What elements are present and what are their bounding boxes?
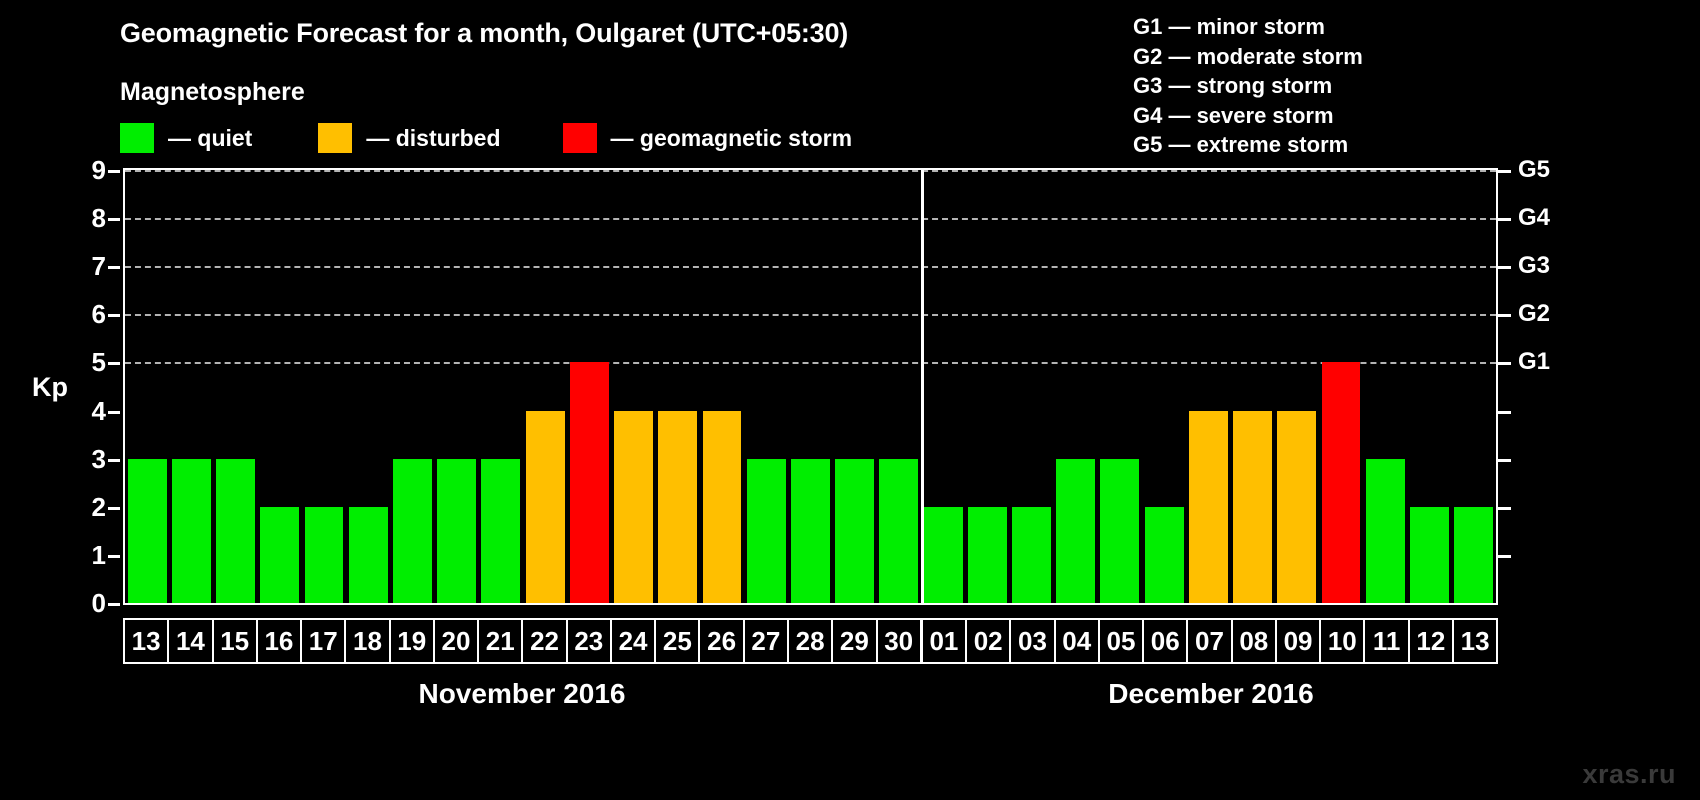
legend-item: — quiet xyxy=(120,123,252,153)
day-label[interactable]: 05 xyxy=(1100,620,1144,662)
disturbed-swatch xyxy=(318,123,352,153)
g-scale-entry: G2 — moderate storm xyxy=(1133,42,1363,72)
bar-cell[interactable] xyxy=(125,170,169,603)
g-tick-label-g5: G5 xyxy=(1518,158,1550,182)
g-axis-tick-mark xyxy=(1498,314,1511,317)
bar-cell[interactable] xyxy=(567,170,611,603)
y-axis: 0123456789 xyxy=(60,168,120,605)
bar[interactable] xyxy=(1410,507,1449,603)
day-label[interactable]: 18 xyxy=(346,620,390,662)
y-tick-mark xyxy=(108,266,120,269)
bar[interactable] xyxy=(968,507,1007,603)
bar[interactable] xyxy=(1189,411,1228,603)
bar[interactable] xyxy=(570,362,609,603)
y-tick-label: 2 xyxy=(92,494,106,520)
bar-cell[interactable] xyxy=(744,170,788,603)
bar[interactable] xyxy=(349,507,388,603)
month-divider xyxy=(921,168,924,605)
month-caption-november: November 2016 xyxy=(123,678,921,710)
y-tick-mark xyxy=(108,555,120,558)
bar[interactable] xyxy=(437,459,476,603)
day-axis-labels: 1314151617181920212223242526272829300102… xyxy=(123,618,1498,664)
g-scale-axis: G1G2G3G4G5 xyxy=(1498,168,1588,605)
y-tick-label: 4 xyxy=(92,398,106,424)
bar[interactable] xyxy=(924,507,963,603)
bar-cell[interactable] xyxy=(169,170,213,603)
bar-cell[interactable] xyxy=(258,170,302,603)
bar-cell[interactable] xyxy=(1452,170,1496,603)
day-label[interactable]: 14 xyxy=(169,620,213,662)
bar[interactable] xyxy=(835,459,874,603)
bar[interactable] xyxy=(393,459,432,603)
bar[interactable] xyxy=(1233,411,1272,603)
bar[interactable] xyxy=(879,459,918,603)
bar[interactable] xyxy=(216,459,255,603)
bar[interactable] xyxy=(128,459,167,603)
legend-item: — disturbed xyxy=(318,123,500,153)
bar[interactable] xyxy=(481,459,520,603)
g-axis-tick-mark xyxy=(1498,170,1511,173)
bar-series xyxy=(125,170,1496,603)
day-label[interactable]: 21 xyxy=(479,620,523,662)
legend-item: — geomagnetic storm xyxy=(563,123,853,153)
watermark: xras.ru xyxy=(1582,759,1676,790)
bar[interactable] xyxy=(703,411,742,603)
day-label[interactable]: 17 xyxy=(302,620,346,662)
day-label[interactable]: 30 xyxy=(878,620,923,662)
g-axis-tick-mark xyxy=(1498,218,1511,221)
y-tick-mark xyxy=(108,218,120,221)
g-axis-minor-tick xyxy=(1498,507,1511,510)
bar[interactable] xyxy=(526,411,565,603)
bar[interactable] xyxy=(1145,507,1184,603)
page-title: Geomagnetic Forecast for a month, Oulgar… xyxy=(120,18,848,49)
day-label[interactable]: 16 xyxy=(258,620,302,662)
day-label[interactable]: 07 xyxy=(1188,620,1232,662)
day-label[interactable]: 03 xyxy=(1011,620,1055,662)
bar-cell[interactable] xyxy=(213,170,257,603)
bar-cell[interactable] xyxy=(921,170,965,603)
bar[interactable] xyxy=(305,507,344,603)
day-label[interactable]: 23 xyxy=(568,620,612,662)
bar-cell[interactable] xyxy=(435,170,479,603)
y-tick-mark xyxy=(108,411,120,414)
day-label[interactable]: 08 xyxy=(1233,620,1277,662)
day-label[interactable]: 29 xyxy=(833,620,877,662)
g-scale-entry: G4 — severe storm xyxy=(1133,101,1363,131)
g-scale-entry: G1 — minor storm xyxy=(1133,12,1363,42)
y-tick-label: 5 xyxy=(92,349,106,375)
bar[interactable] xyxy=(1012,507,1051,603)
day-label[interactable]: 06 xyxy=(1144,620,1188,662)
bar-cell[interactable] xyxy=(611,170,655,603)
bar-cell[interactable] xyxy=(1275,170,1319,603)
bar[interactable] xyxy=(791,459,830,603)
plot-inner xyxy=(125,170,1496,603)
bar[interactable] xyxy=(1100,459,1139,603)
g-axis-minor-tick xyxy=(1498,555,1511,558)
y-tick-mark xyxy=(108,459,120,462)
bar-cell[interactable] xyxy=(965,170,1009,603)
y-tick-mark xyxy=(108,603,120,606)
day-label[interactable]: 15 xyxy=(214,620,258,662)
bar-cell[interactable] xyxy=(1230,170,1274,603)
y-tick-label: 8 xyxy=(92,205,106,231)
bar-cell[interactable] xyxy=(1363,170,1407,603)
y-tick-mark xyxy=(108,170,120,173)
bar-cell[interactable] xyxy=(302,170,346,603)
bar-cell[interactable] xyxy=(1407,170,1451,603)
g-scale-entry: G3 — strong storm xyxy=(1133,71,1363,101)
day-label[interactable]: 11 xyxy=(1365,620,1409,662)
day-label[interactable]: 13 xyxy=(125,620,169,662)
y-tick-label: 9 xyxy=(92,157,106,183)
g-tick-label-g3: G3 xyxy=(1518,254,1550,278)
bar-cell[interactable] xyxy=(390,170,434,603)
day-label[interactable]: 12 xyxy=(1410,620,1454,662)
g-axis-minor-tick xyxy=(1498,459,1511,462)
day-label[interactable]: 25 xyxy=(656,620,700,662)
bar[interactable] xyxy=(172,459,211,603)
bar-cell[interactable] xyxy=(346,170,390,603)
g-axis-tick-mark xyxy=(1498,266,1511,269)
bar-cell[interactable] xyxy=(877,170,921,603)
bar[interactable] xyxy=(1322,362,1361,603)
y-tick-label: 1 xyxy=(92,542,106,568)
legend-item-label: — disturbed xyxy=(366,125,500,152)
bar-cell[interactable] xyxy=(1186,170,1230,603)
day-label[interactable]: 01 xyxy=(923,620,967,662)
bar[interactable] xyxy=(658,411,697,603)
storm-swatch xyxy=(563,123,597,153)
y-tick-label: 0 xyxy=(92,590,106,616)
g-tick-label-g2: G2 xyxy=(1518,302,1550,326)
plot-area xyxy=(123,168,1498,605)
g-axis-tick-mark xyxy=(1498,362,1511,365)
y-tick-label: 7 xyxy=(92,253,106,279)
day-label[interactable]: 24 xyxy=(612,620,656,662)
g-scale-entry: G5 — extreme storm xyxy=(1133,130,1363,160)
month-caption-december: December 2016 xyxy=(924,678,1498,710)
y-tick-mark xyxy=(108,507,120,510)
g-scale-legend: G1 — minor stormG2 — moderate stormG3 — … xyxy=(1133,12,1363,160)
bar-cell[interactable] xyxy=(788,170,832,603)
y-tick-mark xyxy=(108,314,120,317)
day-label[interactable]: 04 xyxy=(1056,620,1100,662)
day-label[interactable]: 19 xyxy=(391,620,435,662)
bar[interactable] xyxy=(614,411,653,603)
day-label[interactable]: 10 xyxy=(1321,620,1365,662)
day-label[interactable]: 27 xyxy=(745,620,789,662)
day-label[interactable]: 13 xyxy=(1454,620,1496,662)
legend: — quiet— disturbed— geomagnetic storm xyxy=(120,122,852,154)
bar[interactable] xyxy=(1454,507,1493,603)
bar-cell[interactable] xyxy=(1319,170,1363,603)
day-label[interactable]: 22 xyxy=(523,620,567,662)
magnetosphere-label: Magnetosphere xyxy=(120,78,305,107)
bar-cell[interactable] xyxy=(479,170,523,603)
day-label[interactable]: 26 xyxy=(700,620,744,662)
day-label[interactable]: 28 xyxy=(789,620,833,662)
bar[interactable] xyxy=(260,507,299,603)
bar-cell[interactable] xyxy=(1054,170,1098,603)
g-tick-label-g4: G4 xyxy=(1518,206,1550,230)
bar-cell[interactable] xyxy=(1142,170,1186,603)
g-axis-minor-tick xyxy=(1498,411,1511,414)
legend-item-label: — geomagnetic storm xyxy=(611,125,853,152)
quiet-swatch xyxy=(120,123,154,153)
bar-cell[interactable] xyxy=(523,170,567,603)
day-label[interactable]: 20 xyxy=(435,620,479,662)
bar-cell[interactable] xyxy=(1009,170,1053,603)
bar-cell[interactable] xyxy=(833,170,877,603)
bar[interactable] xyxy=(1277,411,1316,603)
bar-cell[interactable] xyxy=(656,170,700,603)
bar-cell[interactable] xyxy=(700,170,744,603)
bar[interactable] xyxy=(1366,459,1405,603)
y-tick-mark xyxy=(108,362,120,365)
y-tick-label: 3 xyxy=(92,446,106,472)
day-label[interactable]: 02 xyxy=(967,620,1011,662)
g-tick-label-g1: G1 xyxy=(1518,350,1550,374)
day-label[interactable]: 09 xyxy=(1277,620,1321,662)
bar[interactable] xyxy=(747,459,786,603)
bar-cell[interactable] xyxy=(1098,170,1142,603)
bar[interactable] xyxy=(1056,459,1095,603)
y-tick-label: 6 xyxy=(92,301,106,327)
legend-item-label: — quiet xyxy=(168,125,252,152)
